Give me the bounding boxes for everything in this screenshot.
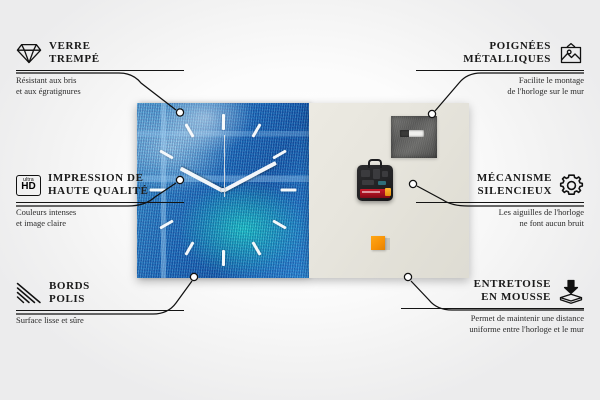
mechanism-detail-b: [373, 169, 380, 179]
diamond-icon: [16, 43, 42, 64]
callout-subtitle-line2: et image claire: [16, 218, 216, 229]
hands-hub: [221, 188, 225, 192]
callout-poignees-metalliques: POIGNÉES MÉTALLIQUES Facilite le montage…: [399, 40, 584, 96]
callout-subtitle-line2: uniforme entre l'horloge et le mur: [384, 324, 584, 335]
tick-11: [184, 123, 194, 137]
callout-header: POIGNÉES MÉTALLIQUES: [399, 40, 584, 66]
tick-2: [272, 149, 286, 159]
tick-5: [251, 241, 261, 255]
callout-title: VERRE TREMPÉ: [49, 40, 100, 66]
mechanism-detail-d: [362, 180, 374, 185]
mechanism-detail-c: [382, 171, 388, 177]
tick-4: [272, 219, 286, 229]
callout-rule: [16, 70, 184, 71]
ultra-hd-icon-bottom-text: HD: [21, 182, 35, 192]
callout-header: VERRE TREMPÉ: [16, 40, 201, 66]
callout-rule: [416, 70, 584, 71]
callout-header: ENTRETOISE EN MOUSSE: [384, 278, 584, 304]
callout-header: ultra HD IMPRESSION DE HAUTE QUALITÉ: [16, 172, 216, 198]
callout-rule: [416, 202, 584, 203]
callout-entretoise-en-mousse: ENTRETOISE EN MOUSSE Permet de maintenir…: [384, 278, 584, 334]
callout-subtitle-line2: ne font aucun bruit: [399, 218, 584, 229]
callout-title: POIGNÉES MÉTALLIQUES: [463, 40, 551, 66]
callout-verre-trempe: VERRE TREMPÉ Résistant aux bris et aux é…: [16, 40, 201, 96]
callout-rule: [16, 310, 184, 311]
foam-spacer-icon: [558, 279, 584, 304]
hanger-slot: [400, 130, 424, 137]
callout-subtitle-line1: Les aiguilles de l'horloge: [399, 207, 584, 218]
foam-spacer: [371, 236, 385, 250]
metal-hanger-plate: [391, 116, 437, 158]
battery-positive-tip: [385, 188, 391, 196]
tick-6: [222, 250, 225, 266]
mechanism-detail-e: [378, 181, 386, 185]
callout-subtitle-line1: Résistant aux bris: [16, 75, 201, 86]
hanging-frame-icon: [558, 42, 584, 65]
second-hand: [224, 135, 226, 197]
callout-header: MÉCANISME SILENCIEUX: [399, 172, 584, 198]
ultra-hd-icon: ultra HD: [16, 175, 41, 196]
tick-7: [184, 241, 194, 255]
callout-subtitle-line1: Couleurs intenses: [16, 207, 216, 218]
callout-subtitle-line1: Facilite le montage: [399, 75, 584, 86]
callout-title: BORDS POLIS: [49, 280, 90, 306]
callout-title: IMPRESSION DE HAUTE QUALITÉ: [48, 172, 148, 198]
callout-title: MÉCANISME SILENCIEUX: [477, 172, 552, 198]
callout-subtitle-line1: Surface lisse et sûre: [16, 315, 201, 326]
tick-1: [251, 123, 261, 137]
callout-mecanisme-silencieux: MÉCANISME SILENCIEUX Les aiguilles de l'…: [399, 172, 584, 228]
battery-label: [362, 191, 380, 193]
tick-3: [281, 189, 297, 192]
callout-subtitle-line1: Permet de maintenir une distance: [384, 313, 584, 324]
callout-header: BORDS POLIS: [16, 280, 201, 306]
callout-subtitle-line2: de l'horloge sur le mur: [399, 86, 584, 97]
callout-rule: [16, 202, 184, 203]
battery: [360, 189, 390, 198]
infographic-stage: VERRE TREMPÉ Résistant aux bris et aux é…: [0, 0, 600, 400]
gear-icon: [559, 173, 584, 198]
quartz-mechanism: [357, 165, 393, 201]
callout-subtitle-line2: et aux égratignures: [16, 86, 201, 97]
mechanism-hook: [368, 159, 382, 168]
mechanism-detail-a: [361, 170, 370, 177]
callout-bords-polis: BORDS POLIS Surface lisse et sûre: [16, 280, 201, 326]
minute-hand: [222, 161, 277, 193]
tick-12: [222, 114, 225, 130]
polished-edge-icon: [16, 282, 42, 304]
callout-rule: [401, 308, 584, 309]
callout-title: ENTRETOISE EN MOUSSE: [474, 278, 551, 304]
callout-impression-haute-qualite: ultra HD IMPRESSION DE HAUTE QUALITÉ Cou…: [16, 172, 216, 228]
tick-10: [159, 149, 173, 159]
